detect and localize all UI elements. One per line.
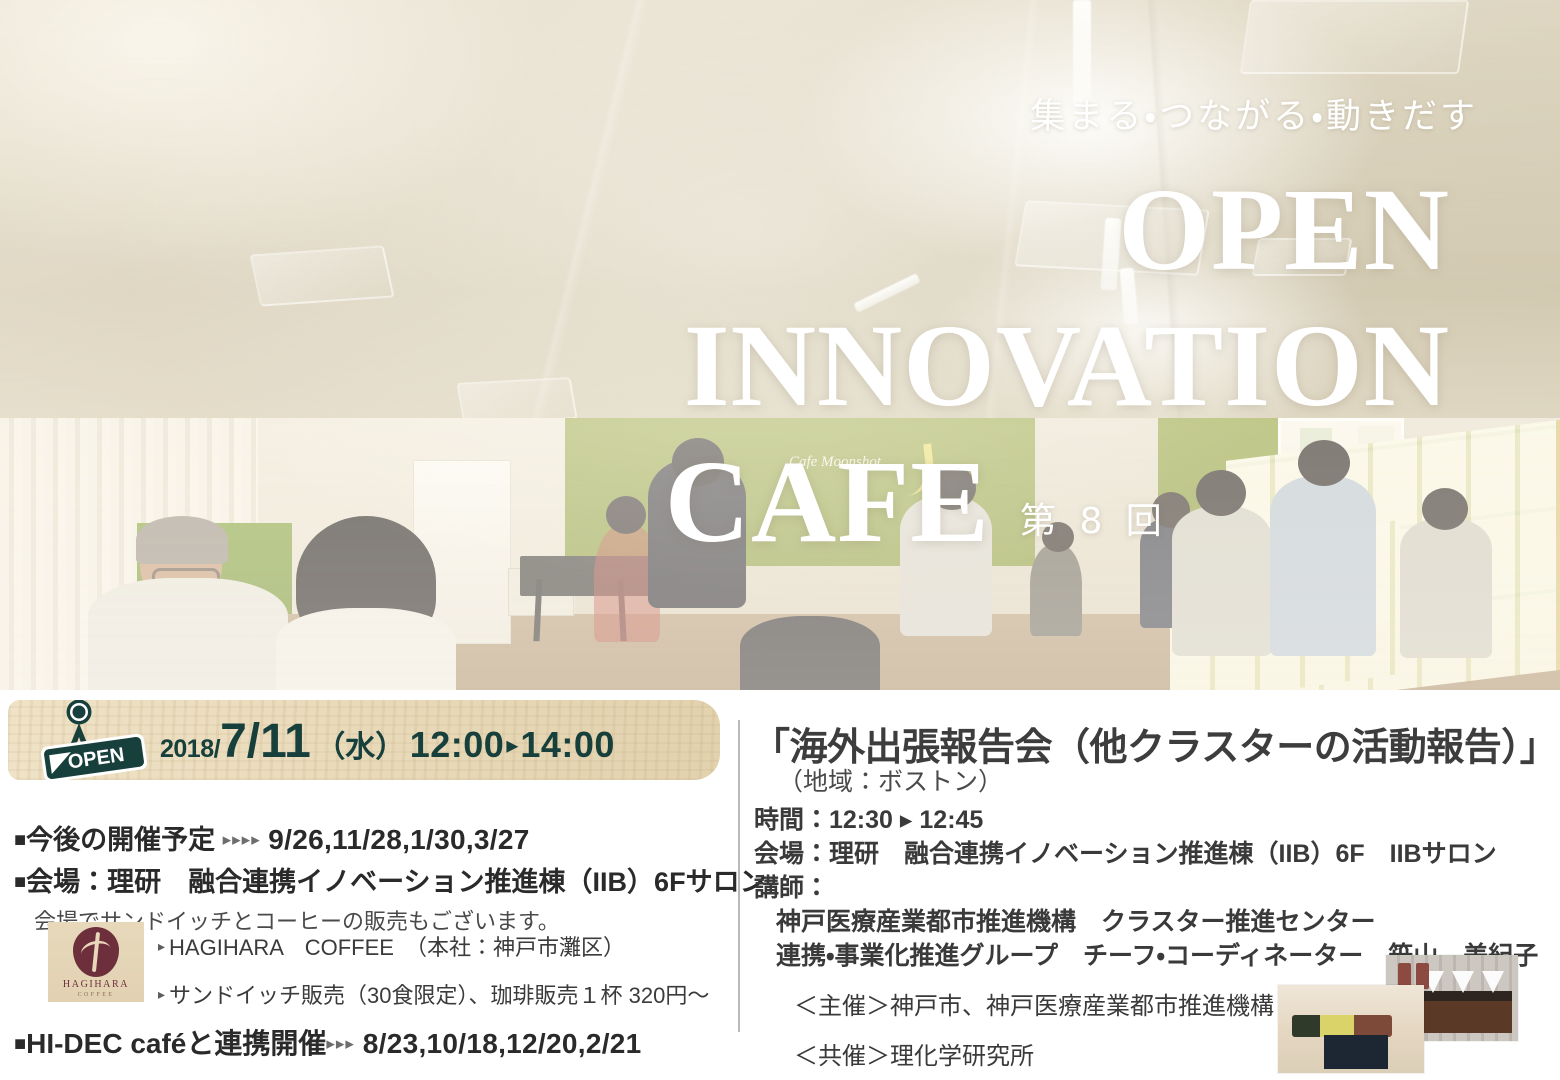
upcoming-schedule-line: ■今後の開催予定 ▸▸▸▸ 9/26,11/28,1/30,3/27	[14, 818, 530, 857]
column-divider	[738, 720, 740, 1032]
bullet-square-icon: ■	[14, 871, 26, 893]
coffee-filter-icon	[1482, 971, 1504, 993]
lecturer-org-line-1: 神戸医療産業都市推進機構 クラスター推進センター	[776, 902, 1376, 938]
session-venue: 会場：理研 融合連携イノベーション推進棟（IIB）6F IIBサロン	[754, 834, 1497, 870]
hagihara-logo-sub: COFFEE	[78, 992, 115, 998]
date-month-day: 7/11	[220, 715, 311, 768]
open-sign-icon: OPEN	[34, 700, 154, 780]
hidec-cafe-line: ■HI-DEC caféと連携開催▸▸▸ 8/23,10/18,12/20,2/…	[14, 1022, 642, 1062]
date-start-time: 12:00	[410, 724, 505, 765]
coffee-detail-line: ▸HAGIHARA COFFEE （本社：神戸市灘区）	[158, 930, 625, 962]
hero-title-line-3: CAFE	[0, 444, 990, 560]
cohost-line: ＜共催＞理化学研究所	[794, 1036, 1034, 1071]
arrow-right-icon: ▸	[504, 732, 520, 759]
date-banner: OPEN 2018/7/11 （水） 12:00▸14:00	[8, 700, 720, 780]
date-year: 2018/	[160, 735, 220, 763]
coffee-pricing-text: サンドイッチ販売（30食限定）、珈琲販売１杯 320円〜	[169, 983, 709, 1008]
coffee-filter-icon	[1452, 971, 1474, 993]
triangle-arrow-icon: ▸	[158, 938, 169, 954]
hagihara-coffee-logo: HAGIHARA COFFEE	[48, 922, 144, 1002]
hidec-dates: 8/23,10/18,12/20,2/21	[363, 1028, 642, 1059]
session-time: 時間：12:30 ▸ 12:45	[754, 800, 983, 836]
upcoming-schedule-label: 今後の開催予定	[26, 825, 215, 855]
hidec-label: HI-DEC caféと連携開催	[26, 1028, 326, 1059]
date-text: 2018/7/11 （水） 12:00▸14:00	[160, 714, 615, 769]
venue-line: ■会場：理研 融合連携イノベーション推進棟（IIB）6Fサロン	[14, 860, 767, 899]
event-poster: Cafe Moonshot	[0, 0, 1560, 1080]
hagihara-logo-name: HAGIHARA	[63, 979, 129, 990]
sandwich-photo	[1278, 985, 1424, 1073]
venue-label: 会場：理研 融合連携イノベーション推進棟（IIB）6Fサロン	[26, 867, 766, 897]
lecturer-label: 講師：	[754, 868, 829, 904]
date-day-of-week: （水）	[315, 731, 405, 764]
bullet-square-icon: ■	[14, 829, 26, 851]
upcoming-dates: 9/26,11/28,1/30,3/27	[268, 824, 529, 855]
session-region: （地域：ボストン）	[778, 762, 1003, 798]
hero-text-block: 集まる・つながる・動きだす OPEN INNOVATION CAFE 第 8 回	[0, 0, 1560, 690]
coffee-bean-icon	[73, 927, 119, 977]
coffee-detail-line: ▸サンドイッチ販売（30食限定）、珈琲販売１杯 320円〜	[158, 978, 709, 1010]
hero-tagline: 集まる・つながる・動きだす	[0, 88, 1478, 139]
hero-title-line-2: INNOVATION	[0, 308, 1450, 424]
triangle-arrow-icon: ▸	[158, 986, 169, 1002]
triangle-arrows-icon: ▸▸▸	[326, 1034, 355, 1053]
host-line: ＜主催＞神戸市、神戸医療産業都市推進機構	[794, 986, 1274, 1021]
edition-number: 第 8 回	[1020, 492, 1168, 544]
date-end-time: 14:00	[520, 724, 615, 765]
bullet-square-icon: ■	[14, 1033, 26, 1055]
hero-title-line-1: OPEN	[0, 172, 1450, 288]
coffee-vendor-text: HAGIHARA COFFEE （本社：神戸市灘区）	[169, 935, 625, 960]
triangle-arrows-icon: ▸▸▸▸	[223, 830, 261, 849]
